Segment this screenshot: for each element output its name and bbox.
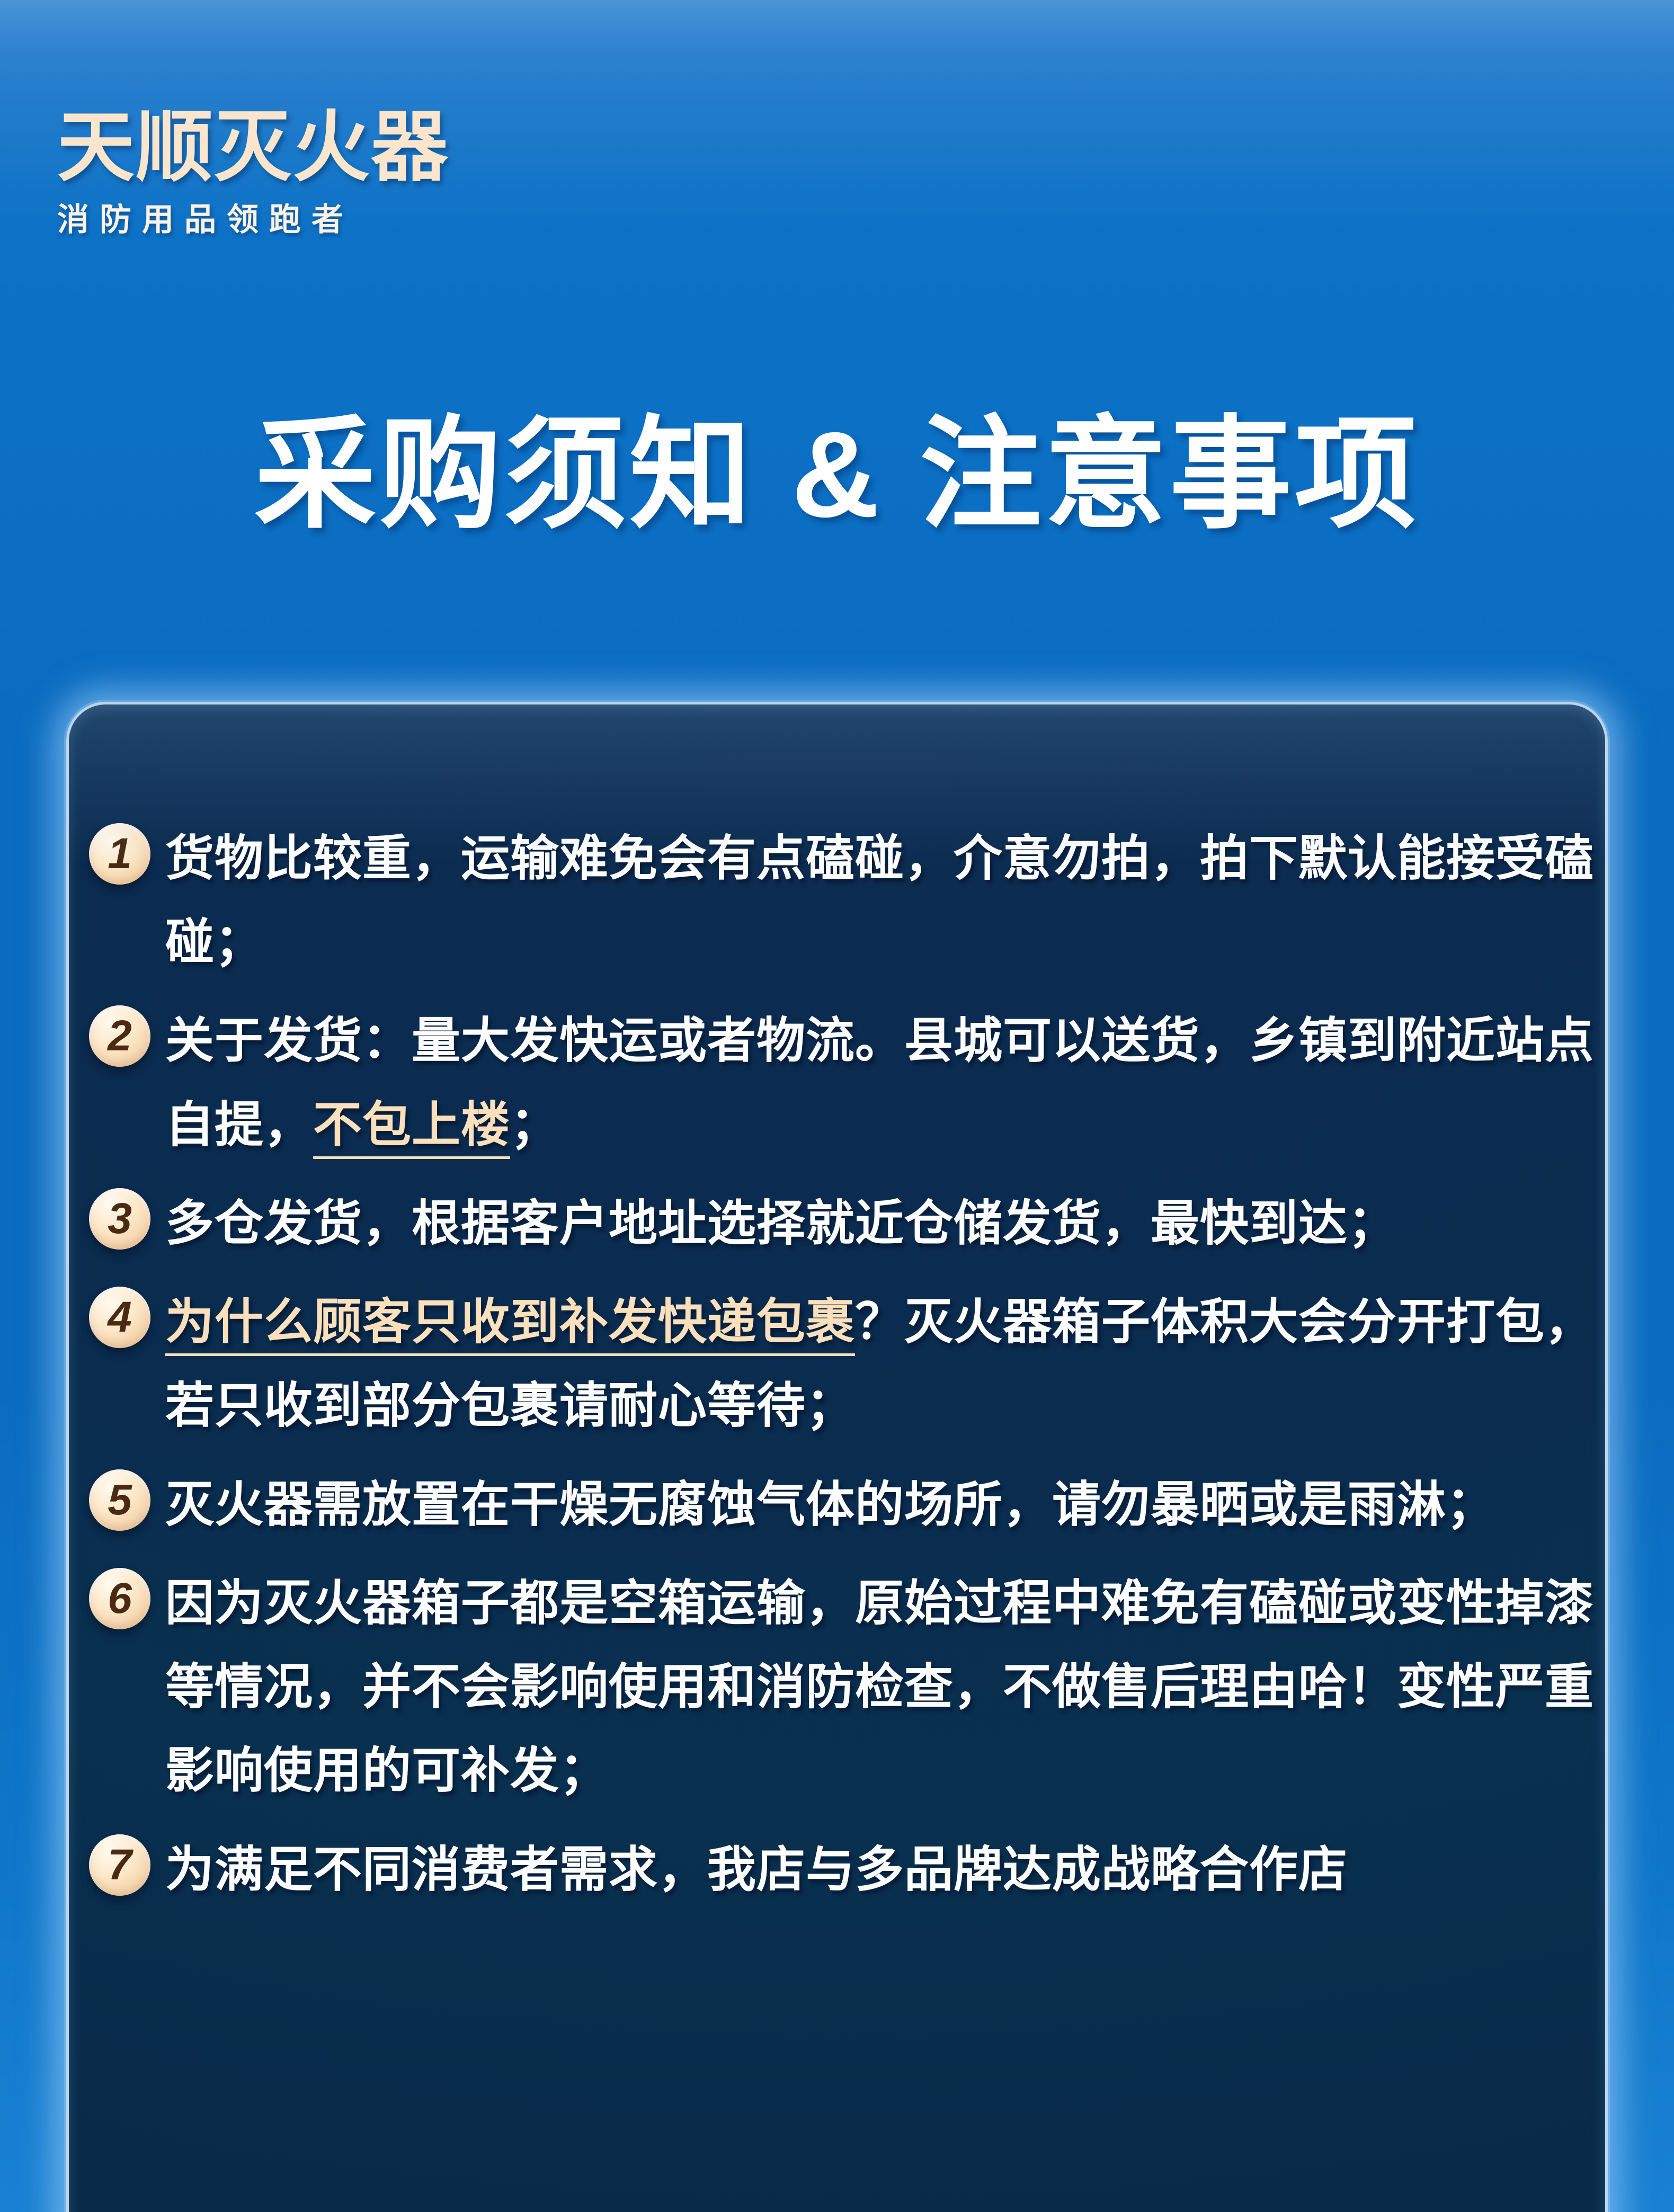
brand-logo: 天顺灭火器 消防用品领跑者 <box>57 109 587 236</box>
notice-text: 为满足不同消费者需求，我店与多品牌达成战略合作店 <box>165 1828 1600 1912</box>
notice-item: 2关于发货：量大发快运或者物流。县城可以送货，乡镇到附近站点自提，不包上楼； <box>79 999 1600 1166</box>
notice-card: 1货物比较重，运输难免会有点磕碰，介意勿拍，拍下默认能接受磕碰；2关于发货：量大… <box>66 702 1608 2212</box>
notice-number-badge: 1 <box>89 823 150 885</box>
notice-text: 因为灭火器箱子都是空箱运输，原始过程中难免有磕碰或变性掉漆等情况，并不会影响使用… <box>165 1562 1600 1813</box>
notice-item: 3多仓发货，根据客户地址选择就近仓储发货，最快到达； <box>79 1182 1600 1265</box>
notice-number-badge: 7 <box>89 1834 150 1896</box>
notice-text: 关于发货：量大发快运或者物流。县城可以送货，乡镇到附近站点自提，不包上楼； <box>165 999 1600 1166</box>
notice-item: 6因为灭火器箱子都是空箱运输，原始过程中难免有磕碰或变性掉漆等情况，并不会影响使… <box>79 1562 1600 1813</box>
page-title: 采购须知 & 注意事项 <box>0 403 1674 546</box>
notice-number-badge: 4 <box>89 1287 150 1348</box>
notice-number-badge: 3 <box>89 1188 150 1250</box>
notice-text-highlight: 为什么顾客只收到补发快递包裹 <box>165 1295 855 1356</box>
notice-text: 灭火器需放置在干燥无腐蚀气体的场所，请勿暴晒或是雨淋； <box>165 1463 1600 1547</box>
notice-text-lead: 因为灭火器箱子都是空箱运输，原始过程中难免有磕碰或变性掉漆等情况，并不会影响使用… <box>165 1576 1594 1798</box>
poster-page: 天顺灭火器 消防用品领跑者 采购须知 & 注意事项 1货物比较重，运输难免会有点… <box>0 0 1674 2212</box>
notice-item: 5灭火器需放置在干燥无腐蚀气体的场所，请勿暴晒或是雨淋； <box>79 1463 1600 1547</box>
notice-text-lead: 为满足不同消费者需求，我店与多品牌达成战略合作店 <box>165 1843 1348 1897</box>
notice-text-highlight: 不包上楼 <box>313 1098 510 1159</box>
notice-list: 1货物比较重，运输难免会有点磕碰，介意勿拍，拍下默认能接受磕碰；2关于发货：量大… <box>79 817 1600 1926</box>
brand-name: 天顺灭火器 <box>57 109 587 186</box>
brand-tagline: 消防用品领跑者 <box>57 204 587 236</box>
notice-item: 4为什么顾客只收到补发快递包裹？灭火器箱子体积大会分开打包，若只收到部分包裹请耐… <box>79 1280 1600 1448</box>
notice-text: 为什么顾客只收到补发快递包裹？灭火器箱子体积大会分开打包，若只收到部分包裹请耐心… <box>165 1280 1600 1448</box>
notice-text-lead: 多仓发货，根据客户地址选择就近仓储发货，最快到达； <box>165 1197 1397 1251</box>
notice-text-tail: ； <box>510 1098 559 1152</box>
notice-number-badge: 6 <box>89 1568 150 1629</box>
notice-text: 多仓发货，根据客户地址选择就近仓储发货，最快到达； <box>165 1182 1600 1265</box>
notice-number-badge: 5 <box>89 1469 150 1531</box>
notice-text-lead: 灭火器需放置在干燥无腐蚀气体的场所，请勿暴晒或是雨淋； <box>165 1478 1495 1532</box>
notice-number-badge: 2 <box>89 1005 150 1067</box>
notice-text-lead: 货物比较重，运输难免会有点磕碰，介意勿拍，拍下默认能接受磕碰； <box>165 832 1594 969</box>
notice-item: 7为满足不同消费者需求，我店与多品牌达成战略合作店 <box>79 1828 1600 1912</box>
notice-text: 货物比较重，运输难免会有点磕碰，介意勿拍，拍下默认能接受磕碰； <box>165 817 1600 984</box>
notice-item: 1货物比较重，运输难免会有点磕碰，介意勿拍，拍下默认能接受磕碰； <box>79 817 1600 984</box>
